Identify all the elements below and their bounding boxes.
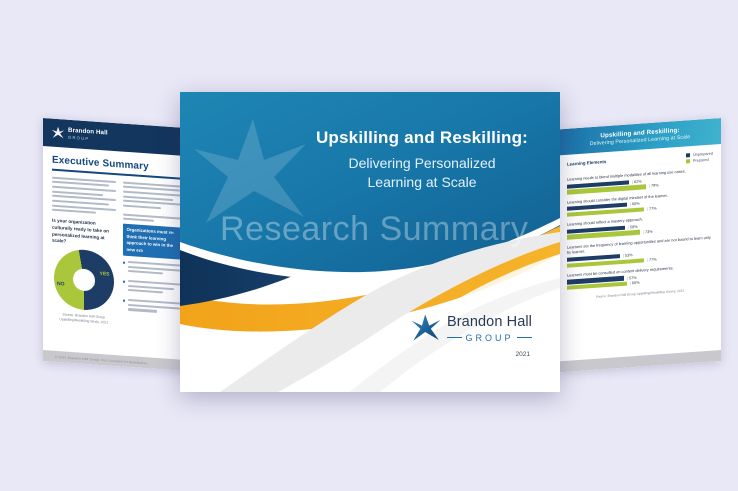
legend-item-unprepared: Unprepared [686,152,713,158]
text-line [128,289,163,294]
left-doc-title: Executive Summary [52,155,186,175]
brandon-hall-logo: Brandon Hall GROUP [410,312,532,344]
logo-group-row: GROUP [447,332,532,343]
chart-column-title: Learning Elements [567,159,606,167]
bullet-lines [128,280,186,298]
page-title: Upskilling and Reskilling: [306,128,538,148]
list-item [123,280,187,299]
donut-value-no: 53% [86,281,95,287]
bar-value: 58% [628,225,638,230]
bar-value: 77% [647,257,657,262]
logo-rule-left [447,337,463,338]
bullet-lines [128,299,186,317]
left-doc-column-2: Organizations must re-think their learni… [123,181,187,331]
legend-item-prepared: Prepared [686,158,713,164]
right-document-page[interactable]: Upskilling and Reskilling: Delivering Pe… [559,118,721,372]
left-doc-source: Source: Brandon Hall Group Upskilling/Re… [52,312,116,327]
cover-subtitle: Delivering Personalized Learning at Scal… [306,154,538,192]
left-document-page[interactable]: Brandon Hall GROUP Executive Summary [43,118,195,372]
readiness-donut-chart: NO YES 53% 47% [52,248,116,312]
text-line [123,218,155,222]
legend-label: Unprepared [693,152,713,157]
text-line [52,209,96,214]
screenshot-stage: Brandon Hall GROUP Executive Summary [0,0,738,491]
bullet-icon [123,261,125,264]
left-doc-footer-text: © 2021 Brandon Hall Group. Not Licensed … [55,354,148,365]
text-line [123,204,161,209]
bar-value: 57% [627,275,637,280]
bullet-lines [128,261,186,279]
logo-group: GROUP [465,333,513,343]
bar-value: 60% [630,202,640,207]
brandon-hall-logo: Brandon Hall GROUP [51,126,108,144]
donut-ring [54,248,114,312]
right-doc-body: Learning Elements Unprepared Prepared Le… [559,144,721,361]
bar-value: 79% [649,184,659,189]
legend-label: Prepared [693,158,709,163]
logo-name: Brandon Hall [447,314,532,330]
bar-value: 53% [623,253,633,258]
left-doc-callout: Organizations must re-think their learni… [123,224,187,260]
bar-value: 73% [643,229,653,234]
right-doc-source: Source: Brandon Hall Group Upskilling/Re… [567,287,713,301]
list-item [123,299,187,318]
donut-label-yes: YES [99,271,109,278]
bar-value: 62% [632,179,642,184]
bullet-icon [123,281,125,284]
left-doc-body: Executive Summary Is your organization c… [43,146,195,354]
bar-value: 77% [647,206,657,211]
text-line [128,270,163,275]
text-line [128,308,157,312]
left-doc-question: Is your organization culturally ready to… [52,218,116,249]
cover-page-card[interactable]: Upskilling and Reskilling: Delivering Pe… [180,92,560,392]
bar-value: 60% [630,281,640,286]
brandon-hall-star-icon [410,312,442,344]
chart-item: Learners set the frequency of learning o… [567,234,713,267]
left-doc-columns: Is your organization culturally ready to… [52,176,186,331]
list-item [123,260,187,279]
legend-swatch-icon [686,153,690,157]
logo-rule-right [517,337,533,338]
donut-label-no: NO [57,281,65,288]
brandon-hall-star-icon [51,126,65,141]
cover-subtitle-line1: Delivering Personalized [348,155,495,171]
cover-year: 2021 [516,351,530,358]
left-doc-bullet-list [123,260,187,317]
cover-watermark-text: Research Summary [220,210,528,249]
bullet-icon [123,300,125,303]
left-doc-footer: © 2021 Brandon Hall Group. Not Licensed … [43,350,195,372]
legend-swatch-icon [686,159,690,163]
cover-subtitle-line2: Learning at Scale [368,174,477,190]
chart-item: Learners must be consulted on content de… [567,262,713,290]
left-doc-column-1: Is your organization culturally ready to… [52,176,116,326]
cover-title-block: Upskilling and Reskilling: Delivering Pe… [306,128,538,192]
chart-legend: Unprepared Prepared [686,152,713,164]
